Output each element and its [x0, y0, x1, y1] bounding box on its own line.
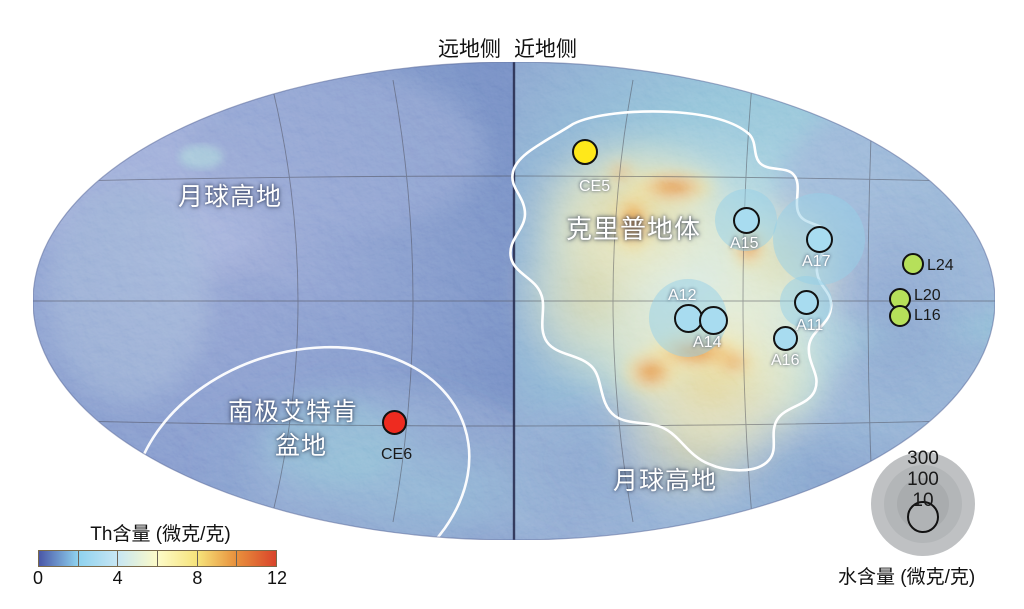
th-tick-label: 4	[113, 568, 123, 589]
site-marker-a14[interactable]	[699, 306, 728, 335]
site-label-ce6: CE6	[381, 446, 412, 464]
near-side-label: 近地侧	[514, 33, 577, 63]
th-colorbar	[38, 550, 277, 567]
site-marker-l24[interactable]	[902, 253, 924, 275]
site-marker-ce6[interactable]	[382, 410, 407, 435]
site-marker-a16[interactable]	[773, 326, 798, 351]
figure-canvas: 远地侧 近地侧	[0, 0, 1024, 609]
mollweide-globe	[33, 62, 995, 540]
water-content-legend: 300 100 10 水含量 (微克/克)	[856, 452, 1006, 602]
site-label-a17: A17	[802, 253, 830, 271]
th-tick-label: 12	[267, 568, 287, 589]
th-tick-label: 8	[192, 568, 202, 589]
th-colorbar-ticks: 04812	[38, 567, 277, 589]
th-colorbar-segment	[237, 551, 276, 566]
site-marker-l16[interactable]	[889, 305, 911, 327]
th-colorbar-segment	[198, 551, 238, 566]
site-marker-ce5[interactable]	[572, 139, 598, 165]
lunar-map	[33, 62, 995, 540]
site-label-l24: L24	[927, 257, 954, 275]
site-label-a15: A15	[730, 235, 758, 253]
site-label-l16: L16	[914, 307, 941, 325]
water-legend-title: 水含量 (微克/克)	[838, 562, 975, 589]
label-highlands-nearside: 月球高地	[613, 461, 717, 497]
site-label-a14: A14	[693, 334, 721, 352]
th-tick-label: 0	[33, 568, 43, 589]
site-label-a12: A12	[668, 287, 696, 305]
globe-surface	[33, 62, 995, 540]
label-spa-basin-line1: 南极艾特肯	[228, 392, 358, 428]
site-marker-a11[interactable]	[794, 290, 819, 315]
site-label-l20: L20	[914, 287, 941, 305]
site-label-ce5: CE5	[579, 178, 610, 196]
th-colorbar-segment	[79, 551, 119, 566]
th-colorbar-segment	[158, 551, 198, 566]
water-value-100: 100	[907, 469, 939, 491]
label-spa-basin-line2: 盆地	[275, 426, 327, 462]
water-value-10: 10	[912, 490, 933, 512]
site-label-a11: A11	[796, 317, 823, 335]
label-highlands-farside: 月球高地	[178, 177, 282, 213]
th-legend-title: Th含量 (微克/克)	[38, 519, 283, 546]
label-kreep-terrane: 克里普地体	[566, 209, 701, 246]
th-colorbar-legend: Th含量 (微克/克) 04812	[38, 519, 283, 589]
th-colorbar-segment	[118, 551, 158, 566]
th-colorbar-segment	[39, 551, 79, 566]
site-label-a16: A16	[771, 352, 799, 370]
water-value-300: 300	[907, 448, 939, 470]
site-marker-a15[interactable]	[733, 207, 760, 234]
water-legend-circles: 300 100 10	[871, 452, 975, 556]
site-marker-a17[interactable]	[806, 226, 833, 253]
far-side-label: 远地侧	[438, 33, 501, 63]
